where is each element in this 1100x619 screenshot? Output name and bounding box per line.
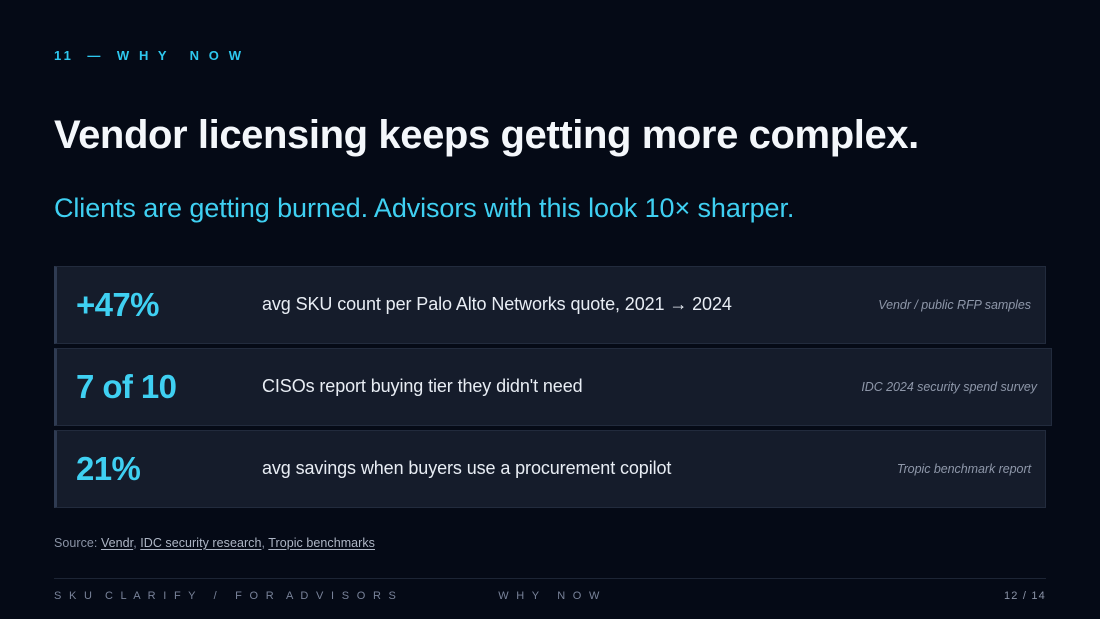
footer-divider: [54, 578, 1046, 579]
stat-value: 7 of 10: [76, 369, 262, 405]
stat-label: CISOs report buying tier they didn't nee…: [262, 375, 861, 398]
stat-row: 21% avg savings when buyers use a procur…: [54, 430, 1046, 508]
stat-row: +47% avg SKU count per Palo Alto Network…: [54, 266, 1046, 344]
page-title: Vendor licensing keeps getting more comp…: [54, 112, 1046, 158]
source-link-idc[interactable]: IDC security research: [140, 536, 261, 550]
source-link-tropic[interactable]: Tropic benchmarks: [268, 536, 375, 550]
stat-source: IDC 2024 security spend survey: [861, 379, 1037, 396]
source-note-prefix: Source:: [54, 536, 101, 550]
source-note: Source: Vendr, IDC security research, Tr…: [54, 536, 375, 550]
stat-list: +47% avg SKU count per Palo Alto Network…: [54, 266, 1046, 512]
slide-root: 11 — W H Y N O W Vendor licensing keeps …: [0, 0, 1100, 619]
stat-source: Tropic benchmark report: [897, 461, 1031, 478]
stat-row: 7 of 10 CISOs report buying tier they di…: [54, 348, 1052, 426]
footer-brand: S K U C L A R I F Y / F O R A D V I S O …: [54, 590, 398, 602]
stat-label: avg savings when buyers use a procuremen…: [262, 457, 897, 480]
slide-eyebrow: 11 — W H Y N O W: [54, 48, 244, 63]
stat-label: avg SKU count per Palo Alto Networks quo…: [262, 293, 878, 316]
stat-value: 21%: [76, 451, 262, 487]
page-subtitle: Clients are getting burned. Advisors wit…: [54, 192, 1046, 226]
source-link-vendr[interactable]: Vendr: [101, 536, 133, 550]
stat-source: Vendr / public RFP samples: [878, 297, 1031, 314]
footer-page-number: 12 / 14: [1004, 590, 1046, 602]
footer: S K U C L A R I F Y / F O R A D V I S O …: [54, 590, 1046, 602]
stat-value: +47%: [76, 287, 262, 323]
